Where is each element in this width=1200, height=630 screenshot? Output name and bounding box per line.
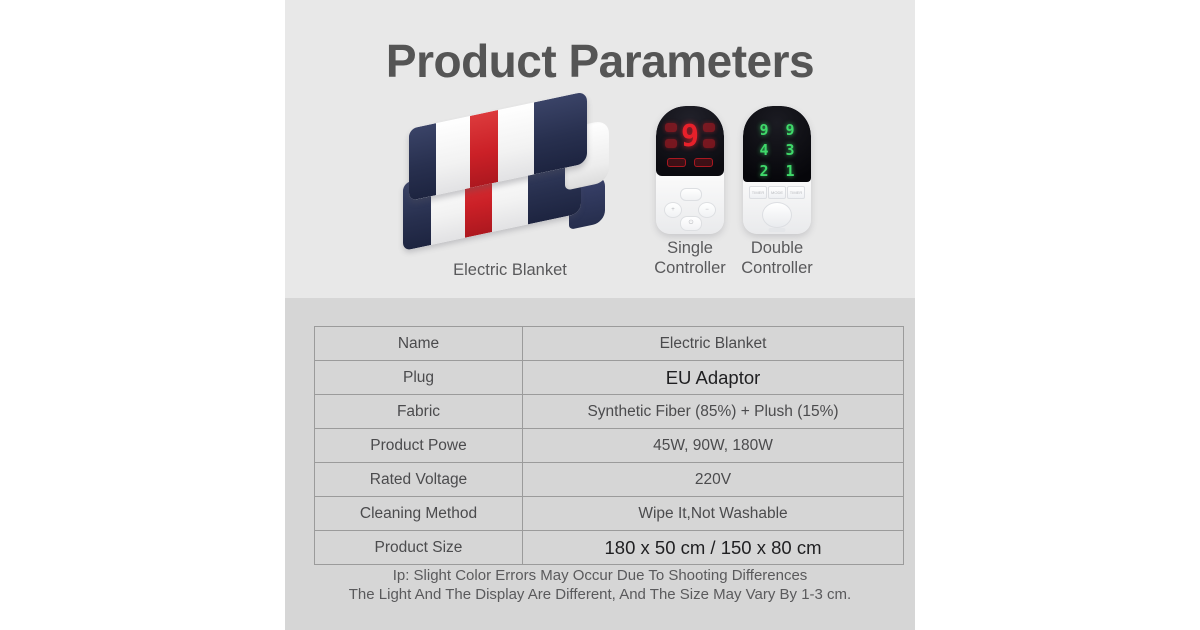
spec-value: Electric Blanket	[523, 327, 904, 361]
product-imagery-row: Electric Blanket 9 +	[285, 100, 915, 290]
single-controller-display: 9	[656, 106, 724, 176]
spec-value: Synthetic Fiber (85%) + Plush (15%)	[523, 395, 904, 429]
footnote-line2: The Light And The Display Are Different,…	[300, 585, 900, 604]
spec-value: Wipe It,Not Washable	[523, 497, 904, 531]
single-controller-buttonpad: + − ⏻	[664, 190, 716, 230]
table-row: Rated Voltage 220V	[315, 463, 904, 497]
double-controller-digits-right: 931	[779, 120, 801, 181]
spec-key: Cleaning Method	[315, 497, 523, 531]
double-controller-bottom-label	[769, 228, 786, 232]
double-controller-power-button	[762, 202, 792, 228]
page-title: Product Parameters	[285, 36, 915, 87]
single-controller-digit: 9	[681, 122, 699, 152]
spec-table: Name Electric Blanket Plug EU Adaptor Fa…	[314, 326, 904, 565]
spec-key: Product Powe	[315, 429, 523, 463]
double-controller-digits-left: 942	[753, 120, 775, 181]
footnote-line1: Ip: Slight Color Errors May Occur Due To…	[300, 566, 900, 585]
double-controller-figure: 942 931 TIMER MODE TIMER Dou	[717, 100, 837, 290]
mode-center-button: MODE	[768, 186, 786, 199]
spec-key: Plug	[315, 361, 523, 395]
spec-key: Product Size	[315, 531, 523, 565]
spec-value: EU Adaptor	[523, 361, 904, 395]
footnote: Ip: Slight Color Errors May Occur Due To…	[300, 566, 900, 604]
double-controller-caption: Double Controller	[717, 238, 837, 278]
spec-value: 220V	[523, 463, 904, 497]
indicator-bar-left	[667, 158, 686, 167]
table-row: Cleaning Method Wipe It,Not Washable	[315, 497, 904, 531]
timer-icon	[703, 123, 715, 132]
spec-value: 45W, 90W, 180W	[523, 429, 904, 463]
minus-button: −	[698, 202, 716, 218]
indicator-bar-right	[694, 158, 713, 167]
clock-icon	[703, 139, 715, 148]
mode-icon	[665, 139, 677, 148]
double-controller-display: 942 931	[743, 106, 811, 182]
spec-key: Name	[315, 327, 523, 361]
content-panel: Product Parameters	[285, 0, 915, 630]
double-controller-icon: 942 931 TIMER MODE TIMER	[743, 106, 811, 234]
heat-level-icon	[665, 123, 677, 132]
blanket-caption: Electric Blanket	[395, 260, 625, 280]
blanket-figure: Electric Blanket	[395, 102, 625, 292]
table-row: Name Electric Blanket	[315, 327, 904, 361]
single-controller-icon: 9 + − ⏻	[656, 106, 724, 234]
table-row: Fabric Synthetic Fiber (85%) + Plush (15…	[315, 395, 904, 429]
power-button: ⏻	[680, 216, 702, 231]
double-controller-button-row: TIMER MODE TIMER	[749, 186, 805, 199]
double-controller-caption-line2: Controller	[717, 258, 837, 278]
table-row: Product Size 180 x 50 cm / 150 x 80 cm	[315, 531, 904, 565]
spec-key: Fabric	[315, 395, 523, 429]
double-controller-caption-line1: Double	[717, 238, 837, 258]
product-parameters-infographic: Product Parameters	[0, 0, 1200, 630]
folded-blanket-icon	[395, 102, 595, 262]
timer-left-button: TIMER	[749, 186, 767, 199]
plus-button: +	[664, 202, 682, 218]
table-row: Product Powe 45W, 90W, 180W	[315, 429, 904, 463]
spec-key: Rated Voltage	[315, 463, 523, 497]
table-row: Plug EU Adaptor	[315, 361, 904, 395]
timer-right-button: TIMER	[787, 186, 805, 199]
mode-button	[680, 188, 702, 201]
spec-value: 180 x 50 cm / 150 x 80 cm	[523, 531, 904, 565]
